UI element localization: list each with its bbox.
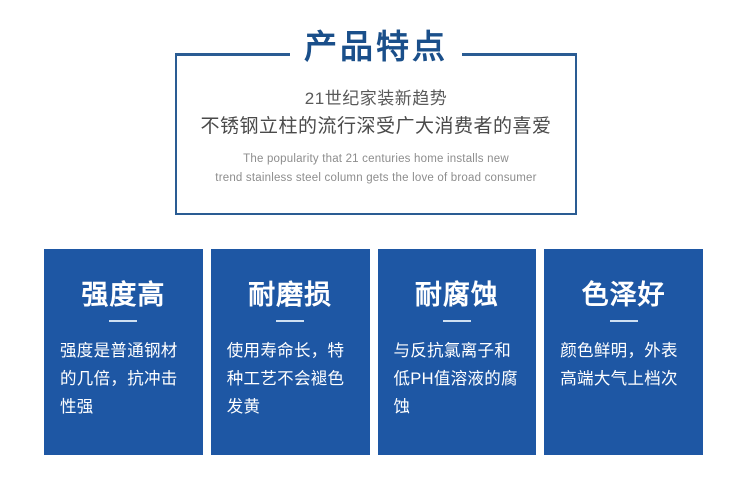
feature-card-title: 耐磨损 — [227, 280, 354, 311]
feature-card-title: 强度高 — [60, 280, 187, 311]
subtitle-chinese-secondary: 不锈钢立柱的流行深受广大消费者的喜爱 — [175, 112, 577, 142]
feature-card-body: 颜色鲜明，外表高端大气上档次 — [560, 337, 687, 393]
feature-card-strength[interactable]: 强度高 强度是普通钢材的几倍，抗冲击性强 — [44, 249, 203, 455]
feature-card-body: 与反抗氯离子和低PH值溶液的腐蚀 — [394, 337, 521, 421]
subtitle-english-line-2: trend stainless steel column gets the lo… — [175, 169, 577, 188]
feature-card-body: 使用寿命长，特种工艺不会褪色发黄 — [227, 337, 354, 421]
section-title-strip: 产品特点 — [175, 20, 577, 72]
page-title: 产品特点 — [290, 30, 462, 63]
feature-card-color-quality[interactable]: 色泽好 颜色鲜明，外表高端大气上档次 — [544, 249, 703, 455]
title-rule-left — [175, 53, 290, 55]
subtitle-chinese-primary: 21世纪家装新趋势 — [175, 86, 577, 112]
subtitle-english-line-1: The popularity that 21 centuries home in… — [175, 150, 577, 169]
card-divider-line — [109, 320, 137, 322]
feature-card-wear-resistance[interactable]: 耐磨损 使用寿命长，特种工艺不会褪色发黄 — [211, 249, 370, 455]
feature-card-body: 强度是普通钢材的几倍，抗冲击性强 — [60, 337, 187, 421]
feature-card-title: 色泽好 — [560, 280, 687, 311]
card-divider-line — [276, 320, 304, 322]
card-divider-line — [610, 320, 638, 322]
feature-card-title: 耐腐蚀 — [394, 280, 521, 311]
header-text-group: 21世纪家装新趋势 不锈钢立柱的流行深受广大消费者的喜爱 The popular… — [175, 86, 577, 188]
title-rule-right — [462, 53, 577, 55]
card-divider-line — [443, 320, 471, 322]
feature-card-corrosion-resistance[interactable]: 耐腐蚀 与反抗氯离子和低PH值溶液的腐蚀 — [378, 249, 537, 455]
feature-card-list: 强度高 强度是普通钢材的几倍，抗冲击性强 耐磨损 使用寿命长，特种工艺不会褪色发… — [44, 249, 703, 455]
